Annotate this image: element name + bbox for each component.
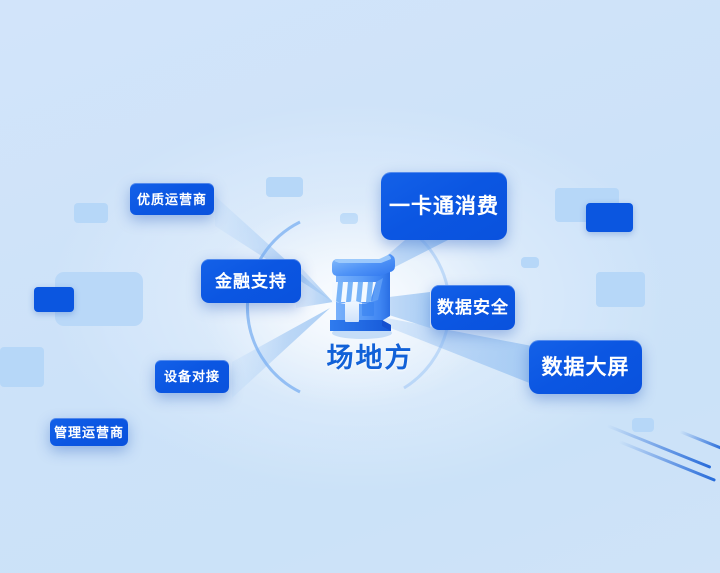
chip-shuju-daping[interactable]: 数据大屏	[529, 340, 642, 394]
infographic-canvas: 场地方 优质运营商金融支持设备对接管理运营商一卡通消费数据安全数据大屏	[0, 0, 720, 573]
chip-label: 数据大屏	[542, 357, 630, 378]
chip-label: 管理运营商	[54, 426, 124, 439]
center-label: 场地方	[300, 336, 440, 375]
chip-yikatong-xiaofei[interactable]: 一卡通消费	[381, 172, 507, 240]
storefront-icon	[318, 248, 404, 340]
chip-jinrong-zhichi[interactable]: 金融支持	[201, 259, 301, 303]
chip-label: 设备对接	[164, 370, 220, 383]
chip-shuju-anquan[interactable]: 数据安全	[431, 285, 515, 330]
chip-label: 数据安全	[437, 299, 509, 316]
chip-label: 金融支持	[215, 273, 287, 290]
chip-label: 一卡通消费	[389, 196, 499, 217]
chip-label: 优质运营商	[137, 193, 207, 206]
chip-shebei-duijie[interactable]: 设备对接	[155, 360, 229, 393]
chip-guanli-yunyingshang[interactable]: 管理运营商	[50, 418, 128, 446]
chip-yizhi-yunyingshang[interactable]: 优质运营商	[130, 183, 214, 215]
